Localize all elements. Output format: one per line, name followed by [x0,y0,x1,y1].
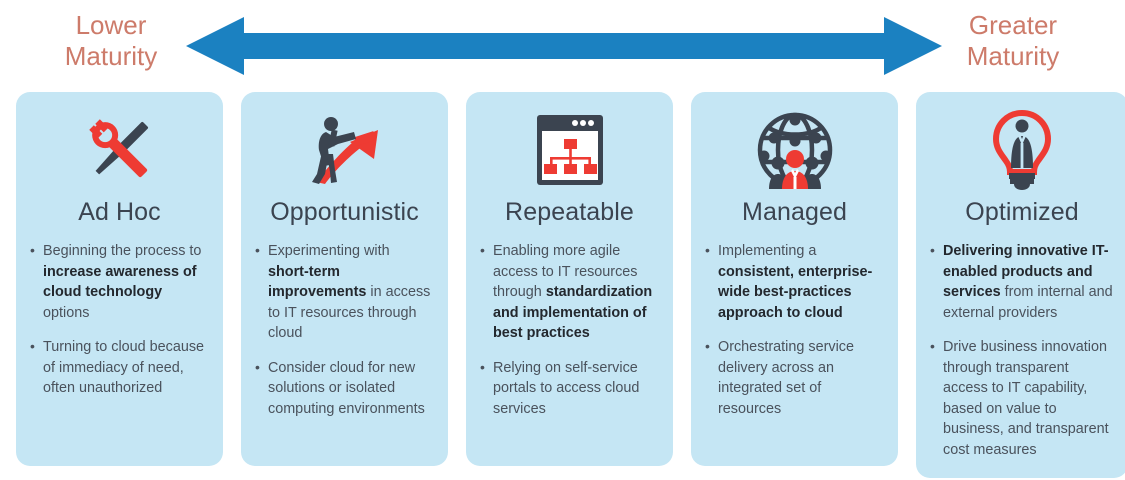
card-bullet-item: Experimenting with short-term improvemen… [255,241,434,344]
maturity-card-ad-hoc[interactable]: Ad Hoc Beginning the process to increase… [16,92,223,466]
card-bullet-item: Drive business innovation through transp… [930,337,1114,460]
bullet-text: options [43,305,89,321]
bullet-text: Drive business innovation through transp… [943,339,1109,458]
globe-network-people-icon [705,110,884,190]
bullet-emphasis: consistent, enterprise-wide best-practic… [718,264,872,321]
bullet-text: Implementing a [718,243,816,259]
card-title: Ad Hoc [30,198,209,227]
person-pulling-growth-arrow-icon [255,110,434,190]
bullet-text: Relying on self-service portals to acces… [493,360,639,417]
maturity-card-repeatable[interactable]: Repeatable Enabling more agile access to… [466,92,673,466]
bullet-text: Experimenting with [268,243,390,259]
card-title: Opportunistic [255,198,434,227]
lower-maturity-label: Lower Maturity [26,10,196,72]
bullet-text: Consider cloud for new solutions or isol… [268,360,425,417]
card-bullet-item: Enabling more agile access to IT resourc… [480,241,659,344]
wrench-screwdriver-icon [30,110,209,190]
card-bullet-item: Beginning the process to increase awaren… [30,241,209,323]
bullet-text: Beginning the process to [43,243,201,259]
lightbulb-person-icon [930,110,1114,190]
bullet-text: Orchestrating service delivery across an… [718,339,854,417]
card-bullet-item: Turning to cloud because of immediacy of… [30,337,209,399]
greater-maturity-label: Greater Maturity [928,10,1098,72]
card-bullets: Delivering innovative IT-enabled product… [930,241,1114,460]
card-title: Repeatable [480,198,659,227]
maturity-header: Lower Maturity Greater Maturity [0,0,1125,88]
card-bullet-item: Implementing a consistent, enterprise-wi… [705,241,884,323]
maturity-card-managed[interactable]: Managed Implementing a consistent, enter… [691,92,898,466]
maturity-card-opportunistic[interactable]: Opportunistic Experimenting with short-t… [241,92,448,466]
card-bullets: Beginning the process to increase awaren… [30,241,209,399]
card-bullets: Enabling more agile access to IT resourc… [480,241,659,419]
double-headed-arrow-icon [186,17,942,75]
card-bullet-item: Relying on self-service portals to acces… [480,358,659,420]
card-title: Managed [705,198,884,227]
card-bullets: Implementing a consistent, enterprise-wi… [705,241,884,419]
card-bullet-item: Orchestrating service delivery across an… [705,337,884,419]
bullet-text: Turning to cloud because of immediacy of… [43,339,204,396]
card-bullets: Experimenting with short-term improvemen… [255,241,434,419]
browser-window-org-chart-icon [480,110,659,190]
bullet-emphasis: increase awareness of cloud technology [43,264,197,301]
card-bullet-item: Consider cloud for new solutions or isol… [255,358,434,420]
card-bullet-item: Delivering innovative IT-enabled product… [930,241,1114,323]
bullet-emphasis: short-term improvements [268,264,366,301]
card-title: Optimized [930,198,1114,227]
maturity-card-optimized[interactable]: Optimized Delivering innovative IT-enabl… [916,92,1125,478]
